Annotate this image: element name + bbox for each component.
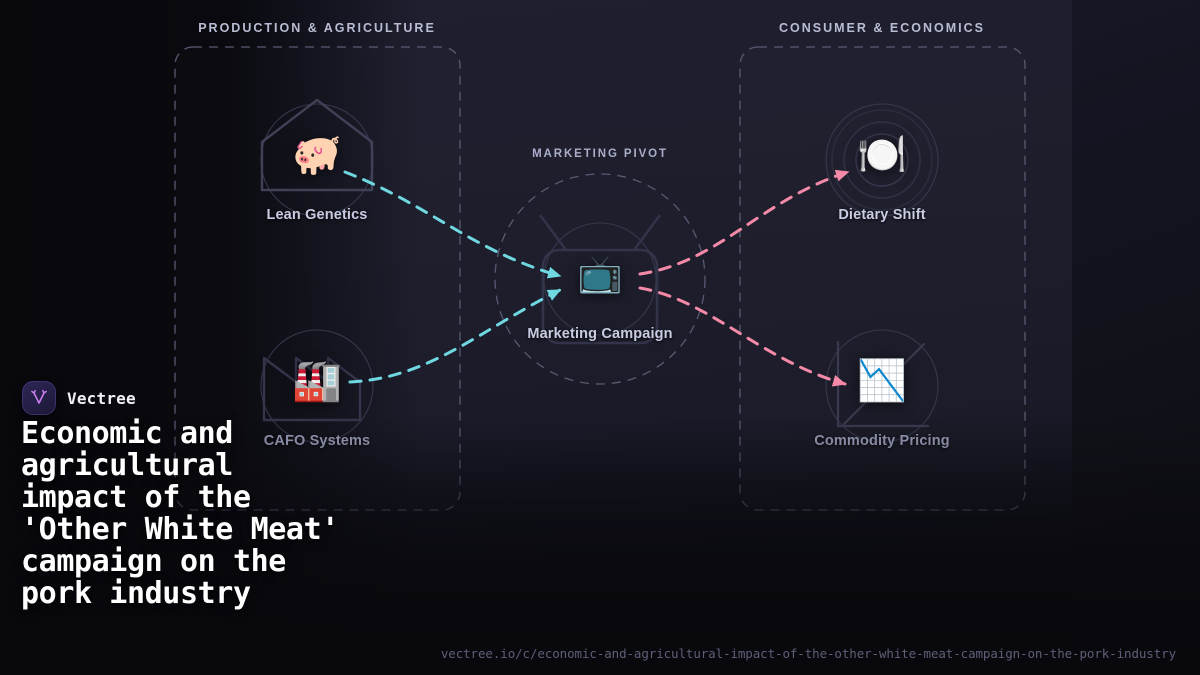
brand-block: Vectree (22, 381, 136, 415)
television-icon: 📺 (578, 256, 623, 292)
node-art: 🍽️ (792, 97, 972, 213)
node-dietary-shift[interactable]: 🍽️ Dietary Shift (792, 97, 972, 223)
group-label-production-agriculture: PRODUCTION & AGRICULTURE (198, 21, 436, 35)
chart-decreasing-icon: 📉 (857, 361, 907, 401)
node-label-dietary-shift: Dietary Shift (792, 207, 972, 223)
url-bar: vectree.io/c/economic-and-agricultural-i… (0, 631, 1200, 675)
group-label-consumer-economics: CONSUMER & ECONOMICS (779, 21, 985, 35)
node-label-lean-genetics: Lean Genetics (227, 207, 407, 223)
node-marketing-campaign[interactable]: 📺 Marketing Campaign (510, 216, 690, 342)
plate-fork-knife-icon: 🍽️ (857, 135, 907, 175)
factory-icon: 🏭 (292, 361, 342, 401)
node-art: 🐖 (227, 97, 407, 213)
pig-icon: 🐖 (292, 135, 342, 175)
group-label-marketing-pivot: MARKETING PIVOT (532, 148, 668, 160)
vectree-logo-mark (22, 381, 56, 415)
brand-name: Vectree (67, 389, 136, 408)
screenshot-stage: PRODUCTION & AGRICULTURE CONSUMER & ECON… (0, 0, 1200, 675)
node-label-marketing-campaign: Marketing Campaign (510, 326, 690, 342)
page-title: Economic and agricultural impact of the … (21, 418, 351, 610)
node-art: 📺 (510, 216, 690, 332)
node-lean-genetics[interactable]: 🐖 Lean Genetics (227, 97, 407, 223)
vectree-v-tree-icon (29, 388, 49, 408)
page-url: vectree.io/c/economic-and-agricultural-i… (441, 646, 1176, 661)
